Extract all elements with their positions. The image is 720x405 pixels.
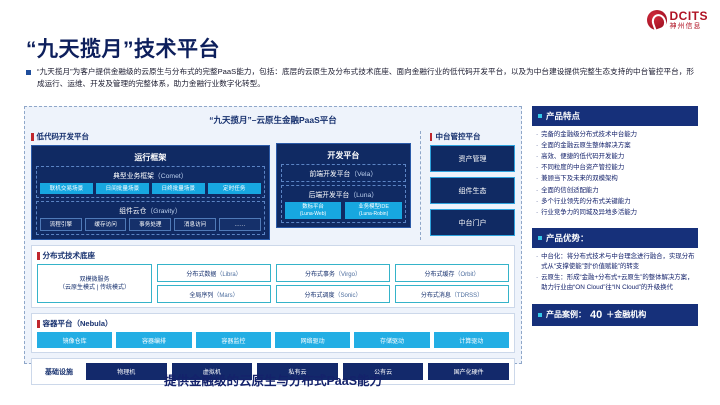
feature-item: ·多个行业领先的分布式关键能力: [536, 197, 696, 207]
comet-chip[interactable]: 日间批量场景: [96, 183, 149, 194]
gravity-chip[interactable]: ……: [219, 218, 261, 231]
comet-title: 典型业务框架（Comet）: [40, 170, 261, 180]
comet-group: 典型业务框架（Comet） 联机交易场景 日间批量场景 日终批量场景 定时任务: [36, 166, 265, 198]
dot-bullet-icon: ·: [536, 152, 538, 162]
distributed-column: 分布式缓存（Orbit） 分布式消息（TDRSS）: [395, 264, 509, 303]
dot-bullet-icon: ·: [536, 186, 538, 196]
intro-text: “九天揽月”为客户提供金融级的云原生与分布式的完整PaaS能力，包括：底层的云原…: [37, 66, 694, 90]
luna-robin-en: (Luna-Robin): [345, 211, 402, 217]
comet-chip[interactable]: 日终批量场景: [152, 183, 205, 194]
feature-text: 完备的金融级分布式技术中台能力: [541, 130, 637, 140]
feature-text: 全面的金融云原生整体解决方案: [541, 141, 630, 151]
logo-en: DCITS: [670, 10, 709, 22]
dot-bullet-icon: ·: [536, 174, 538, 184]
dot-bullet-icon: ·: [536, 163, 538, 173]
midctrl-label-text: 中台管控平台: [435, 131, 480, 142]
bottom-caption: 提供金融级的云原生与分布式PaaS能力: [0, 370, 546, 389]
feature-text: 兼顾当下及未来的双模架构: [541, 174, 618, 184]
gravity-title-en: （Gravity）: [146, 208, 181, 215]
feature-item: ·全面的信创适配能力: [536, 186, 696, 196]
product-features-header: 产品特点: [532, 106, 698, 126]
container-chip[interactable]: 容器编排: [116, 332, 191, 348]
intro-paragraph: “九天揽月”为客户提供金融级的云原生与分布式的完整PaaS能力，包括：底层的云原…: [26, 66, 694, 90]
container-chip[interactable]: 容器监控: [196, 332, 271, 348]
product-cases-number: 40: [590, 309, 602, 321]
dev-platform-panel: 开发平台 前端开发平台（Vela） 后端开发平台（Luna） 数标平台: [276, 143, 411, 228]
company-logo: DCITS 神州信息: [647, 10, 709, 30]
gravity-chip[interactable]: 事务处理: [129, 218, 171, 231]
luna-robin-cn: 业务模型IDE: [358, 204, 389, 210]
lowcode-column: 低代码开发平台 运行框架 典型业务框架（Comet） 联机交易场景 日间批量场景…: [31, 131, 270, 240]
cell-en: （Libra）: [216, 272, 241, 278]
cell-cn: 分布式消息: [421, 293, 451, 299]
container-chip[interactable]: 存储驱动: [354, 332, 429, 348]
distributed-label-text: 分布式技术底座: [43, 250, 96, 261]
comet-chip-row: 联机交易场景 日间批量场景 日终批量场景 定时任务: [40, 183, 261, 194]
logo-cn: 神州信息: [670, 23, 709, 30]
dual-mode-line1: 双模微服务: [79, 276, 109, 284]
luna-web-chip[interactable]: 数标平台 (Luna-Web): [285, 202, 342, 219]
advantage-item: ·云原生：形成“金融+分布式+云原生”的整体解决方案，助力行业由“ON Clou…: [536, 273, 696, 293]
feature-text: 全面的信创适配能力: [541, 186, 599, 196]
cell-en: （Virgo）: [335, 272, 361, 278]
feature-item: ·全面的金融云原生整体解决方案: [536, 141, 696, 151]
luna-title-en: （Luna）: [349, 192, 378, 199]
feature-item: ·高效、便捷的低代码开发能力: [536, 152, 696, 162]
cell-en: （Orbit）: [455, 272, 480, 278]
cell-cn: 全局序列: [189, 293, 213, 299]
dev-platform-head: 开发平台: [281, 148, 406, 164]
advantage-item: ·中台化：将分布式技术与中台理念进行融合，实现分布式从“支撑使能”到“价值赋能”…: [536, 252, 696, 272]
distributed-base-card: 分布式技术底座 双模微服务 （云原生模式 | 传统模式） 分布式数据（Libra…: [31, 245, 515, 308]
product-advantages-list: ·中台化：将分布式技术与中台理念进行融合，实现分布式从“支撑使能”到“价值赋能”…: [532, 248, 698, 297]
product-cases-suffix: ＋金融机构: [606, 309, 646, 320]
dot-bullet-icon: ·: [536, 130, 538, 140]
gravity-chip[interactable]: 消息访问: [174, 218, 216, 231]
vela-title-cn: 前端开发平台: [310, 171, 351, 178]
feature-text: 行业竞争力的同城及异地多活能力: [541, 208, 637, 218]
red-bar-icon: [31, 133, 34, 141]
feature-item: ·兼顾当下及未来的双模架构: [536, 174, 696, 184]
midctrl-section-label: 中台管控平台: [430, 131, 515, 142]
luna-title: 后端开发平台（Luna）: [285, 189, 402, 199]
feature-item: ·行业竞争力的同城及异地多活能力: [536, 208, 696, 218]
comet-title-en: （Comet）: [154, 173, 188, 180]
architecture-diagram: “九天揽月”–云原生金融PaaS平台 低代码开发平台 运行框架 典型业务框架（C…: [24, 106, 522, 364]
gravity-chip-row: 流程引擎 缓存访问 事务处理 消息访问 ……: [40, 218, 261, 231]
container-chip[interactable]: 网络驱动: [275, 332, 350, 348]
vela-title: 前端开发平台（Vela）: [285, 168, 402, 178]
page-title: “九天揽月”技术平台: [26, 33, 220, 63]
feature-item: ·完备的金融级分布式技术中台能力: [536, 130, 696, 140]
dev-platform-column: 开发平台 前端开发平台（Vela） 后端开发平台（Luna） 数标平台: [276, 131, 411, 240]
red-bar-icon: [430, 133, 433, 141]
diagram-title: “九天揽月”–云原生金融PaaS平台: [31, 114, 515, 126]
luna-web-en: (Luna-Web): [285, 211, 342, 217]
cell-cn: 分布式缓存: [424, 272, 454, 278]
product-cases-label: 产品案例：: [546, 309, 586, 320]
feature-text: 多个行业领先的分布式关键能力: [541, 197, 630, 207]
comet-title-cn: 典型业务框架: [113, 173, 154, 180]
product-advantages-card: 产品优势： ·中台化：将分布式技术与中台理念进行融合，实现分布式从“支撑使能”到…: [532, 228, 698, 297]
product-advantages-title: 产品优势：: [546, 232, 589, 244]
comet-chip[interactable]: 定时任务: [208, 183, 261, 194]
midctrl-item[interactable]: 组件生态: [430, 177, 515, 204]
advantage-text: 云原生：形成“金融+分布式+云原生”的整体解决方案，助力行业由“ON Cloud…: [541, 273, 696, 293]
gravity-title: 组件云仓（Gravity）: [40, 205, 261, 215]
container-chip[interactable]: 镜像仓库: [37, 332, 112, 348]
distributed-grid: 双模微服务 （云原生模式 | 传统模式） 分布式数据（Libra） 全局序列（M…: [37, 264, 509, 303]
distributed-cell[interactable]: 分布式事务（Virgo）: [276, 264, 390, 282]
cell-en: （TDRSS）: [451, 293, 483, 299]
gravity-title-cn: 组件云仓: [119, 208, 146, 215]
gravity-group: 组件云仓（Gravity） 流程引擎 缓存访问 事务处理 消息访问 ……: [36, 201, 265, 235]
product-advantages-header: 产品优势：: [532, 228, 698, 248]
comet-chip[interactable]: 联机交易场景: [40, 183, 93, 194]
container-chip[interactable]: 计算驱动: [434, 332, 509, 348]
luna-box: 后端开发平台（Luna） 数标平台 (Luna-Web) 业务模型IDE (Lu…: [281, 185, 406, 223]
diagram-top-row: 低代码开发平台 运行框架 典型业务框架（Comet） 联机交易场景 日间批量场景…: [31, 131, 515, 240]
side-panels: 产品特点 ·完备的金融级分布式技术中台能力 ·全面的金融云原生整体解决方案 ·高…: [532, 106, 698, 326]
square-bullet-icon: [26, 70, 31, 75]
midctrl-column: 中台管控平台 资产管理 组件生态 中台门户: [430, 131, 515, 240]
dcits-swirl-icon: [647, 10, 667, 30]
distributed-column: 分布式事务（Virgo） 分布式调度（Sonic）: [276, 264, 390, 303]
distributed-cell[interactable]: 全局序列（Mars）: [157, 285, 271, 303]
dot-bullet-icon: ·: [536, 273, 538, 293]
container-section-label: 容器平台（Nebula）: [37, 318, 509, 329]
distributed-cell[interactable]: 分布式消息（TDRSS）: [395, 285, 509, 303]
cell-cn: 分布式数据: [186, 272, 216, 278]
product-features-list: ·完备的金融级分布式技术中台能力 ·全面的金融云原生整体解决方案 ·高效、便捷的…: [532, 126, 698, 221]
vela-box: 前端开发平台（Vela）: [281, 164, 406, 182]
distributed-cell[interactable]: 分布式调度（Sonic）: [276, 285, 390, 303]
slide-root: DCITS 神州信息 “九天揽月”技术平台 “九天揽月”为客户提供金融级的云原生…: [0, 0, 720, 405]
dual-mode-microservice-cell[interactable]: 双模微服务 （云原生模式 | 传统模式）: [37, 264, 152, 303]
red-bar-icon: [37, 252, 40, 260]
distributed-column: 分布式数据（Libra） 全局序列（Mars）: [157, 264, 271, 303]
dot-bullet-icon: ·: [536, 141, 538, 151]
distributed-cell[interactable]: 分布式缓存（Orbit）: [395, 264, 509, 282]
container-label-text: 容器平台（Nebula）: [43, 318, 113, 329]
square-bullet-icon: [538, 114, 542, 118]
container-platform-card: 容器平台（Nebula） 镜像仓库 容器编排 容器监控 网络驱动 存储驱动 计算…: [31, 313, 515, 353]
feature-text: 高效、便捷的低代码开发能力: [541, 152, 624, 162]
red-bar-icon: [37, 320, 40, 328]
gravity-chip[interactable]: 流程引擎: [40, 218, 82, 231]
advantage-text: 中台化：将分布式技术与中台理念进行融合，实现分布式从“支撑使能”到“价值赋能”的…: [541, 252, 696, 272]
square-bullet-icon: [538, 236, 542, 240]
product-features-card: 产品特点 ·完备的金融级分布式技术中台能力 ·全面的金融云原生整体解决方案 ·高…: [532, 106, 698, 221]
feature-text: 不同粒度的中台资产管控能力: [541, 163, 624, 173]
dot-bullet-icon: ·: [536, 252, 538, 272]
lowcode-section-label: 低代码开发平台: [31, 131, 270, 142]
logo-text: DCITS 神州信息: [670, 10, 709, 30]
luna-web-cn: 数标平台: [302, 204, 324, 210]
square-bullet-icon: [538, 313, 542, 317]
cell-cn: 分布式调度: [304, 293, 334, 299]
runtime-framework-head: 运行框架: [36, 150, 265, 166]
cell-cn: 分布式事务: [305, 272, 335, 278]
feature-item: ·不同粒度的中台资产管控能力: [536, 163, 696, 173]
luna-robin-chip[interactable]: 业务模型IDE (Luna-Robin): [345, 202, 402, 219]
lowcode-label-text: 低代码开发平台: [37, 131, 90, 142]
distributed-section-label: 分布式技术底座: [37, 250, 509, 261]
runtime-framework-panel: 运行框架 典型业务框架（Comet） 联机交易场景 日间批量场景 日终批量场景 …: [31, 145, 270, 240]
gravity-chip[interactable]: 缓存访问: [85, 218, 127, 231]
luna-chip-row: 数标平台 (Luna-Web) 业务模型IDE (Luna-Robin): [285, 202, 402, 219]
midctrl-item[interactable]: 中台门户: [430, 209, 515, 236]
dot-bullet-icon: ·: [536, 197, 538, 207]
container-chip-row: 镜像仓库 容器编排 容器监控 网络驱动 存储驱动 计算驱动: [37, 332, 509, 348]
vertical-divider: [420, 131, 421, 240]
dot-bullet-icon: ·: [536, 208, 538, 218]
luna-title-cn: 后端开发平台: [309, 192, 350, 199]
vela-title-en: （Vela）: [350, 171, 377, 178]
product-features-title: 产品特点: [546, 110, 580, 122]
cell-en: （Sonic）: [335, 293, 362, 299]
midctrl-item[interactable]: 资产管理: [430, 145, 515, 172]
product-cases-bar: 产品案例： 40 ＋金融机构: [532, 304, 698, 326]
distributed-cell[interactable]: 分布式数据（Libra）: [157, 264, 271, 282]
cell-en: （Mars）: [213, 293, 238, 299]
midctrl-item-list: 资产管理 组件生态 中台门户: [430, 145, 515, 236]
dual-mode-line2: （云原生模式 | 传统模式）: [59, 284, 130, 292]
